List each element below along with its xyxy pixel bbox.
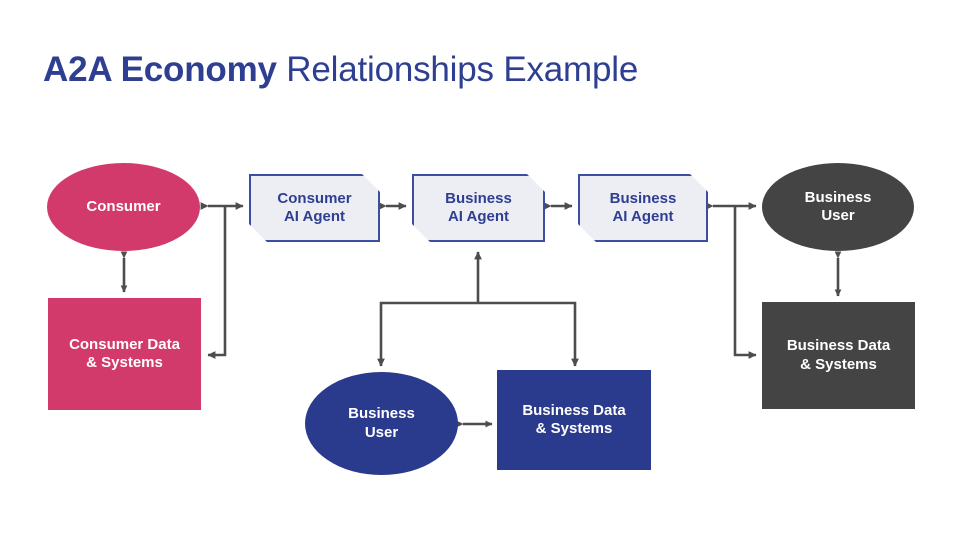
connector-fork-businessdata-bottom — [478, 303, 575, 366]
connector-fork-businessuser-bottom — [381, 303, 478, 366]
node-business-data-systems-bottom[interactable]: Business Data & Systems — [497, 370, 651, 470]
node-consumer-ai-agent-label-1: Consumer — [277, 190, 351, 208]
node-business-user-bottom[interactable]: Business User — [305, 372, 458, 475]
node-business-data-systems-right[interactable]: Business Data & Systems — [762, 302, 915, 409]
node-consumer-ai-agent-body: Consumer AI Agent — [249, 174, 380, 242]
node-business-user-right-label-2: User — [821, 207, 854, 225]
node-business-data-systems-right-label-1: Business Data — [787, 337, 890, 355]
page-title-light: Relationships Example — [277, 50, 638, 89]
node-business-ai-agent-2-label-2: AI Agent — [612, 208, 673, 226]
node-consumer-ai-agent[interactable]: Consumer AI Agent — [249, 174, 380, 242]
node-consumer-data-systems-label-2: & Systems — [86, 354, 163, 372]
node-business-user-bottom-label-1: Business — [348, 405, 415, 423]
connector-agent-consumerdata — [208, 206, 225, 355]
node-consumer-ai-agent-label-2: AI Agent — [284, 208, 345, 226]
node-business-ai-agent-1-body: Business AI Agent — [412, 174, 545, 242]
node-business-ai-agent-2[interactable]: Business AI Agent — [578, 174, 708, 242]
node-business-data-systems-right-label-2: & Systems — [800, 356, 877, 374]
diagram-canvas: A2A Economy Relationships Example — [0, 0, 960, 540]
node-business-ai-agent-1-label-2: AI Agent — [448, 208, 509, 226]
node-consumer-data-systems[interactable]: Consumer Data & Systems — [48, 298, 201, 410]
node-consumer-label: Consumer — [86, 198, 160, 216]
page-title: A2A Economy Relationships Example — [43, 50, 638, 90]
node-business-data-systems-bottom-label-2: & Systems — [536, 420, 613, 438]
node-business-ai-agent-2-label-1: Business — [610, 190, 677, 208]
page-title-bold: A2A Economy — [43, 50, 277, 89]
node-business-data-systems-bottom-label-1: Business Data — [522, 402, 625, 420]
node-business-ai-agent-2-body: Business AI Agent — [578, 174, 708, 242]
node-business-user-bottom-label-2: User — [365, 424, 398, 442]
node-business-user-right-label-1: Business — [805, 189, 872, 207]
node-business-user-right[interactable]: Business User — [762, 163, 914, 251]
node-consumer[interactable]: Consumer — [47, 163, 200, 251]
node-consumer-data-systems-label-1: Consumer Data — [69, 336, 180, 354]
node-business-ai-agent-1[interactable]: Business AI Agent — [412, 174, 545, 242]
connector-agent3-businessdata — [735, 206, 756, 355]
node-business-ai-agent-1-label-1: Business — [445, 190, 512, 208]
